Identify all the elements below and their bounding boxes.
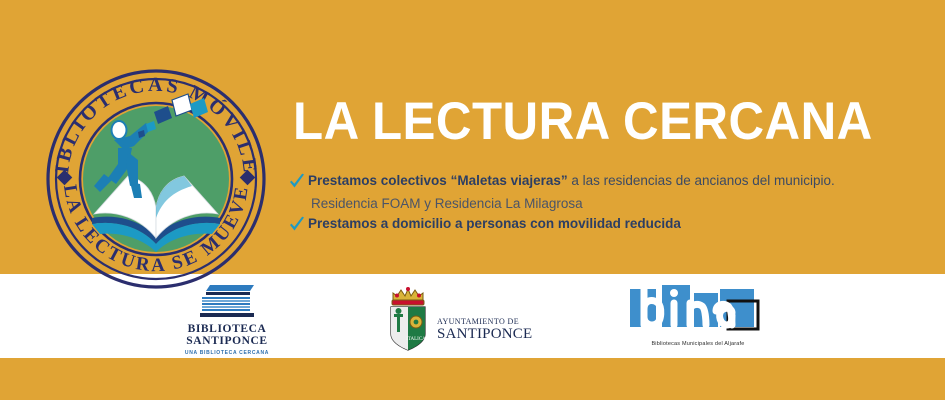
list-item-rest: a las residencias de ancianos del munici… [568,173,835,188]
page-title: LA LECTURA CERCANA [293,93,870,153]
logo-tagline: UNA BIBLIOTECA CERCANA [163,349,291,357]
list-item-sub: Residencia FOAM y Residencia La Milagros… [311,193,929,215]
logo-line-1: AYUNTAMIENTO DE [437,317,532,326]
bibliotecas-moviles-seal: BIBLIOTECAS MÓVILES LA LECTURA SE MUEVE [42,68,270,290]
list-item-strong: Prestamos a domicilio a personas con mov… [308,216,681,231]
bullet-list: Prestamos colectivos “Maletas viajeras” … [289,172,929,236]
logo-biblioteca-santiponce: BIBLIOTECA SANTIPONCE UNA BIBLIOTECA CER… [163,283,291,353]
check-icon [289,173,305,191]
list-item: Prestamos a domicilio a personas con mov… [289,215,929,234]
stacked-books-icon [192,283,262,321]
logo-ayuntamiento-santiponce: ITALICA AYUNTAMIENTO DE SANTIPONCE [385,283,535,353]
logo-line-2: SANTIPONCE [437,326,532,342]
logo-line-2: SANTIPONCE [163,336,291,348]
list-item: Prestamos colectivos “Maletas viajeras” … [289,172,929,191]
poster-banner: BIBLIOTECAS MÓVILES LA LECTURA SE MUEVE [0,0,945,400]
check-icon [289,216,305,234]
coat-of-arms-icon: ITALICA [385,284,431,352]
list-item-strong: Prestamos colectivos “Maletas viajeras” [308,173,568,188]
logo-bima: Bibliotecas Municipales del Aljarafe [628,283,768,353]
bima-wordmark-icon [628,283,764,339]
logo-tagline: Bibliotecas Municipales del Aljarafe [628,340,768,348]
bottom-gold-bar [0,358,945,400]
logo-line-1: BIBLIOTECA [163,324,291,336]
svg-text:ITALICA: ITALICA [406,337,426,342]
list-item-text: Prestamos a domicilio a personas con mov… [308,215,681,233]
list-item-text: Prestamos colectivos “Maletas viajeras” … [308,172,835,190]
